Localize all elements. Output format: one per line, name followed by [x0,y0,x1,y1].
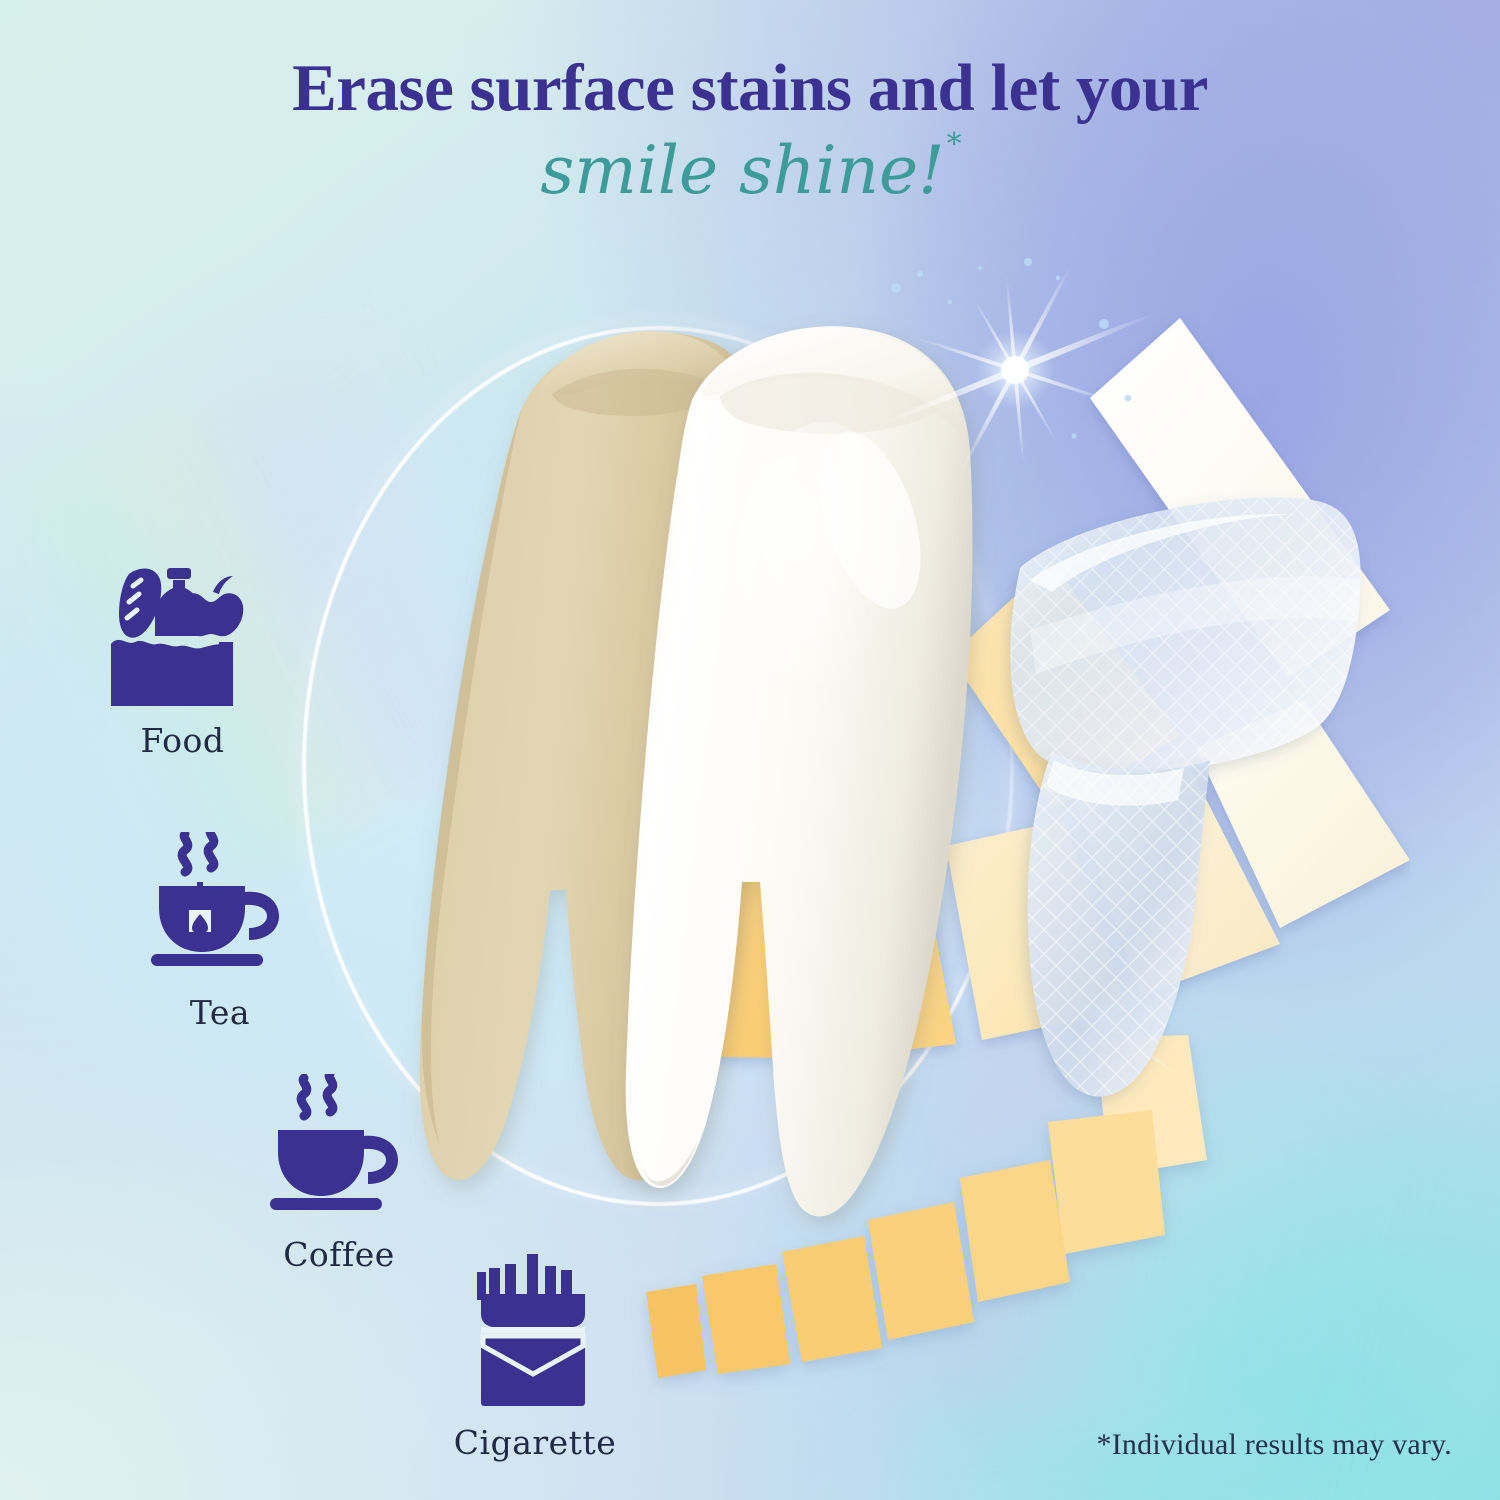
headline-block: Erase surface stains and let your smile … [0,52,1500,206]
stain-source-tea: Tea [120,832,320,1029]
tea-cup-icon [145,832,295,982]
promo-graphic: Erase surface stains and let your smile … [0,0,1500,1500]
stain-source-label: Cigarette [420,1426,650,1459]
shade-tab-b [1048,1110,1165,1254]
strip-lower-tail [1028,752,1210,1097]
stain-source-cigarette: Cigarette [420,1254,650,1459]
headline-line-2: smile shine!* [540,136,959,205]
headline-line-1: Erase surface stains and let your [0,52,1500,124]
stain-source-food: Food [80,560,285,757]
stain-source-label: Food [80,724,285,757]
whitening-strip [960,460,1390,1120]
stain-source-coffee: Coffee [234,1074,444,1271]
headline-asterisk: * [947,127,962,162]
shade-tab-f [702,1264,790,1374]
grocery-bag-icon [103,560,263,710]
coffee-cup-icon [264,1074,414,1224]
stain-source-label: Coffee [234,1238,444,1271]
cigarette-pack-icon [465,1254,605,1412]
disclaimer-text: *Individual results may vary. [1097,1428,1452,1462]
headline-line-2-text: smile shine! [540,132,944,209]
shade-tab-g [646,1284,706,1378]
stain-source-label: Tea [120,996,320,1029]
